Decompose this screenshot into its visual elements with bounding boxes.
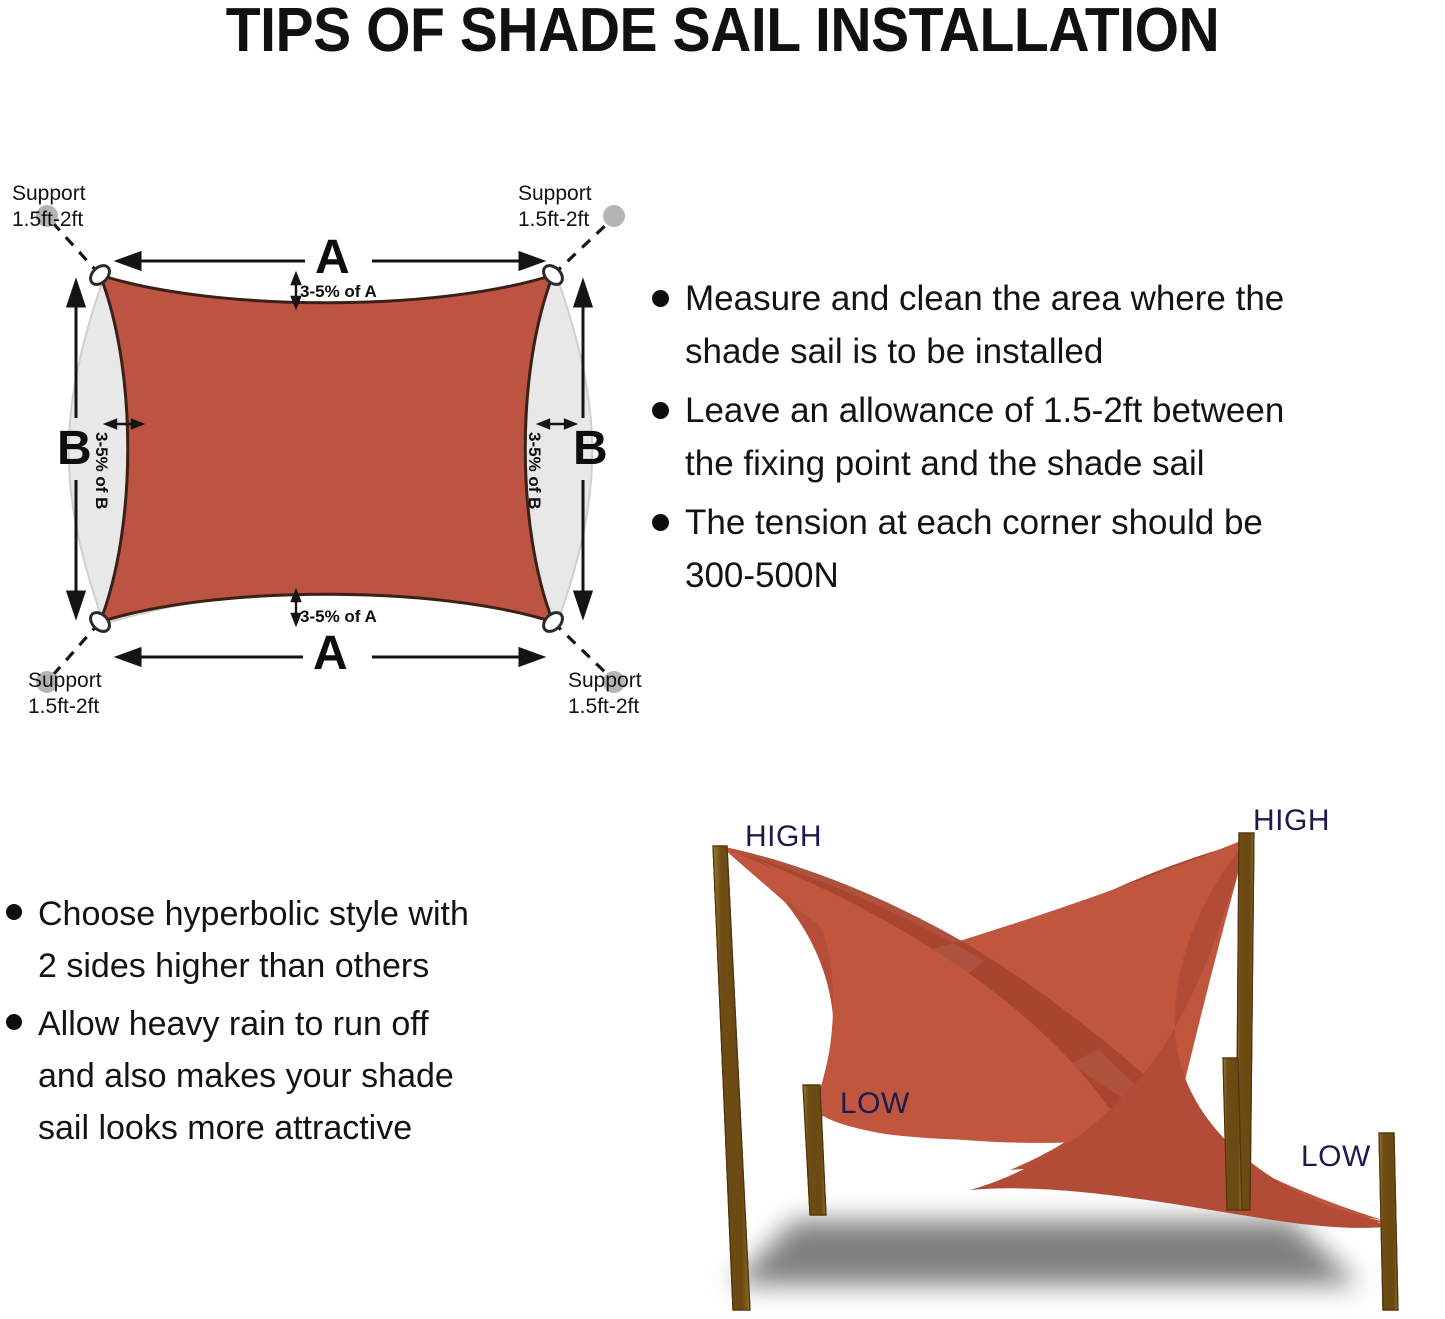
list-item: Allow heavy rain to run off and also mak… (6, 998, 631, 1154)
support-label-value: 1.5ft-2ft (28, 694, 102, 720)
curve-callout-top: 3-5% of A (300, 283, 377, 300)
post-left-high-front (713, 846, 750, 1310)
page-title: TIPS OF SHADE SAIL INSTALLATION (58, 0, 1387, 63)
list-item-line: Allow heavy rain to run off (38, 998, 454, 1050)
installation-tips-list: Measure and clean the area where the sha… (652, 272, 1445, 608)
support-label-title: Support (568, 668, 642, 694)
dimension-label-B-left: B (57, 425, 92, 473)
list-item-line: Leave an allowance of 1.5-2ft between (685, 384, 1284, 437)
list-item-text: Choose hyperbolic style with 2 sides hig… (38, 888, 469, 992)
list-item-line: sail looks more attractive (38, 1102, 454, 1154)
post-center-low-front (1223, 1058, 1242, 1210)
dimension-label-A-bottom: A (313, 630, 348, 678)
list-item-text: Allow heavy rain to run off and also mak… (38, 998, 454, 1154)
support-label-top-right: Support 1.5ft-2ft (518, 181, 592, 233)
ground-shadow (730, 1220, 1360, 1285)
support-label-title: Support (518, 181, 592, 207)
bullet-icon (652, 290, 669, 307)
post-label-right-low: LOW (1301, 1140, 1371, 1174)
bullet-icon (652, 514, 669, 531)
hypar-sail-illustration-svg (670, 790, 1445, 1319)
support-label-title: Support (12, 181, 86, 207)
list-item-line: The tension at each corner should be (685, 496, 1263, 549)
list-item-line: the fixing point and the shade sail (685, 437, 1284, 490)
support-label-top-left: Support 1.5ft-2ft (12, 181, 86, 233)
support-label-value: 1.5ft-2ft (12, 207, 86, 233)
infographic-page: TIPS OF SHADE SAIL INSTALLATION (0, 0, 1445, 1319)
list-item: Choose hyperbolic style with 2 sides hig… (6, 888, 631, 992)
list-item: Measure and clean the area where the sha… (652, 272, 1445, 378)
post-label-right-high: HIGH (1253, 804, 1330, 838)
curve-callout-bottom: 3-5% of A (300, 608, 377, 625)
list-item-line: shade sail is to be installed (685, 325, 1284, 378)
post-right-low-front (1379, 1133, 1398, 1310)
dimension-label-B-right: B (573, 425, 608, 473)
support-label-value: 1.5ft-2ft (518, 207, 592, 233)
list-item-text: Measure and clean the area where the sha… (685, 272, 1284, 378)
list-item: Leave an allowance of 1.5-2ft between th… (652, 384, 1445, 490)
bullet-icon (6, 904, 22, 920)
post-label-left-low: LOW (840, 1087, 910, 1121)
list-item-line: Measure and clean the area where the (685, 272, 1284, 325)
hyperbolic-style-tips-list: Choose hyperbolic style with 2 sides hig… (6, 888, 631, 1160)
dimension-label-A-top: A (315, 234, 350, 282)
curve-callout-right: 3-5% of B (526, 432, 543, 509)
post-label-left-high: HIGH (745, 820, 822, 854)
support-label-bottom-right: Support 1.5ft-2ft (568, 668, 642, 720)
list-item-line: 300-500N (685, 549, 1263, 602)
sail-shape (69, 275, 593, 624)
bullet-icon (652, 402, 669, 419)
bullet-icon (6, 1014, 22, 1030)
list-item-text: Leave an allowance of 1.5-2ft between th… (685, 384, 1284, 490)
list-item-line: 2 sides higher than others (38, 940, 469, 992)
list-item-text: The tension at each corner should be 300… (685, 496, 1263, 602)
list-item-line: and also makes your shade (38, 1050, 454, 1102)
support-label-bottom-left: Support 1.5ft-2ft (28, 668, 102, 720)
curve-callout-left: 3-5% of B (93, 432, 110, 509)
sail-fabric (100, 275, 553, 622)
list-item: The tension at each corner should be 300… (652, 496, 1445, 602)
list-item-line: Choose hyperbolic style with (38, 888, 469, 940)
support-label-value: 1.5ft-2ft (568, 694, 642, 720)
support-label-title: Support (28, 668, 102, 694)
